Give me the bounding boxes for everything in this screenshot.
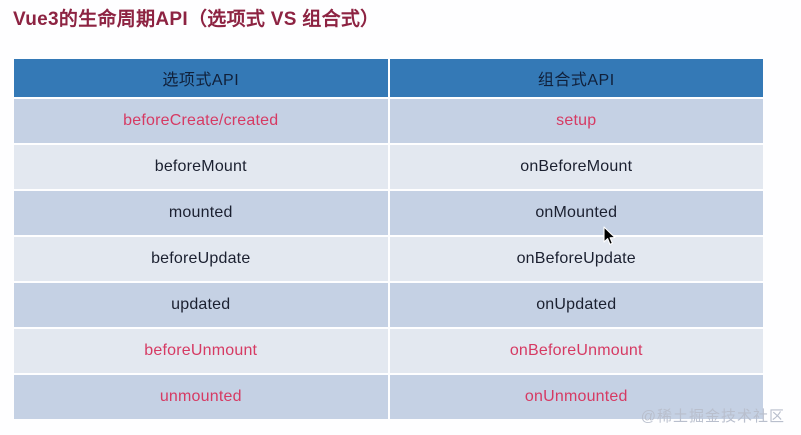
table-row: updated onUpdated xyxy=(14,283,763,327)
page-title: Vue3的生命周期API（选项式 VS 组合式） xyxy=(13,6,379,34)
lifecycle-api-table: 选项式API 组合式API beforeCreate/created setup… xyxy=(12,57,765,421)
table-row: mounted onMounted xyxy=(14,191,763,235)
table-body: beforeCreate/created setup beforeMount o… xyxy=(14,99,763,419)
cell-options-api: beforeMount xyxy=(14,145,388,189)
column-header-composition-api: 组合式API xyxy=(390,59,764,97)
cell-composition-api: onUpdated xyxy=(390,283,764,327)
cell-options-api: beforeUpdate xyxy=(14,237,388,281)
cell-options-api: updated xyxy=(14,283,388,327)
cell-options-api: beforeUnmount xyxy=(14,329,388,373)
cell-composition-api: onBeforeUnmount xyxy=(390,329,764,373)
slide-canvas: Vue3的生命周期API（选项式 VS 组合式） 选项式API 组合式API b… xyxy=(0,0,801,435)
table-row: beforeUpdate onBeforeUpdate xyxy=(14,237,763,281)
cell-options-api: beforeCreate/created xyxy=(14,99,388,143)
cell-composition-api: onMounted xyxy=(390,191,764,235)
cell-composition-api: onUnmounted xyxy=(390,375,764,419)
table-row: unmounted onUnmounted xyxy=(14,375,763,419)
cell-composition-api: onBeforeUpdate xyxy=(390,237,764,281)
cell-options-api: unmounted xyxy=(14,375,388,419)
column-header-options-api: 选项式API xyxy=(14,59,388,97)
table-header: 选项式API 组合式API xyxy=(14,59,763,97)
cell-composition-api: onBeforeMount xyxy=(390,145,764,189)
table-row: beforeCreate/created setup xyxy=(14,99,763,143)
table-row: beforeMount onBeforeMount xyxy=(14,145,763,189)
cell-composition-api: setup xyxy=(390,99,764,143)
table-row: beforeUnmount onBeforeUnmount xyxy=(14,329,763,373)
table-header-row: 选项式API 组合式API xyxy=(14,59,763,97)
cell-options-api: mounted xyxy=(14,191,388,235)
